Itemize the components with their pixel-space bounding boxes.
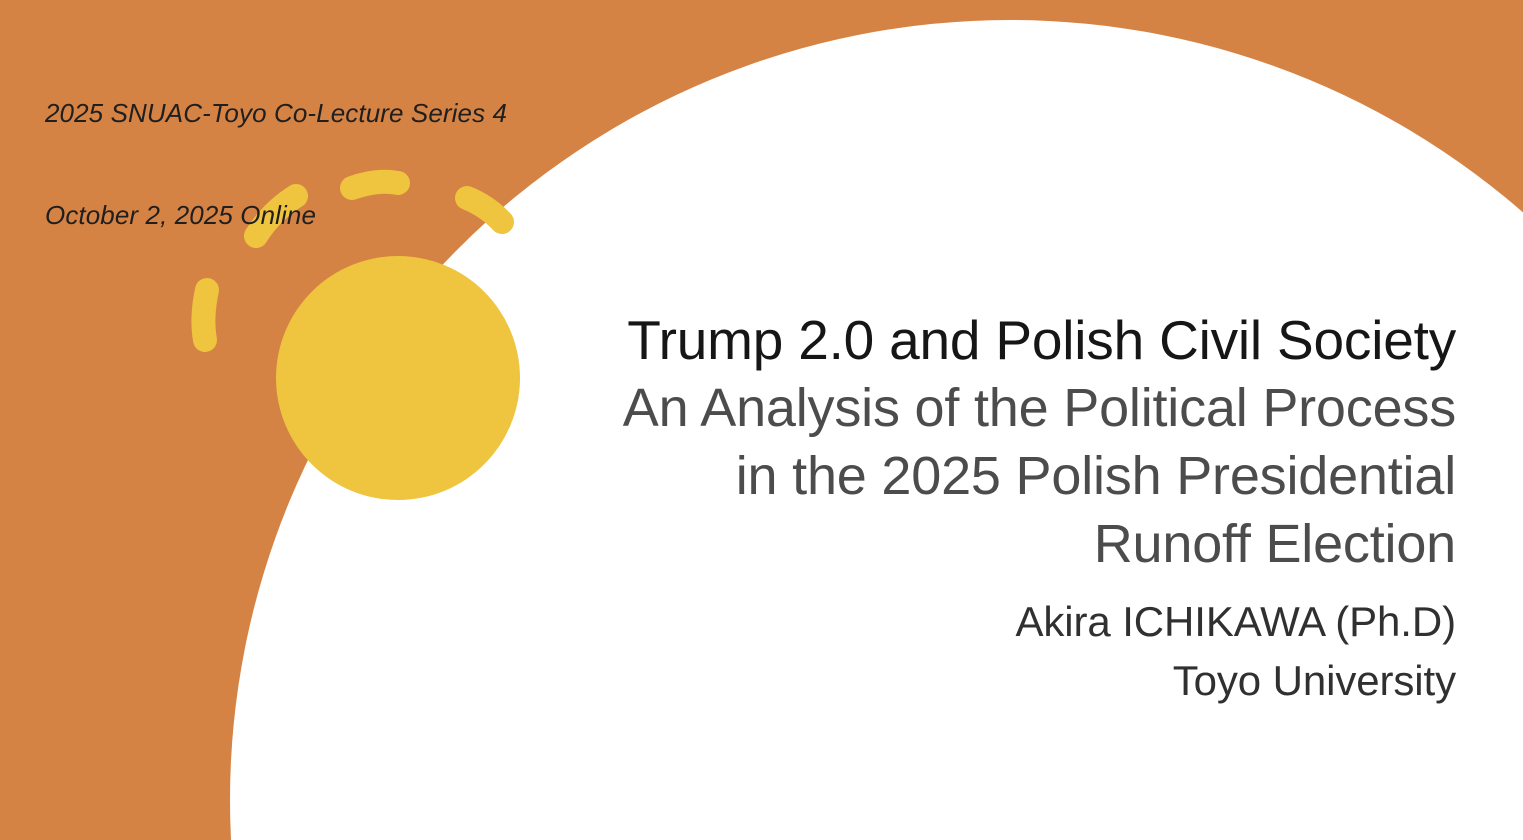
author-block: Akira ICHIKAWA (Ph.D) Toyo University — [506, 592, 1456, 710]
page-title: Trump 2.0 and Polish Civil Society — [506, 306, 1456, 374]
title-block: Trump 2.0 and Polish Civil Society An An… — [506, 306, 1456, 578]
event-series-line: 2025 SNUAC-Toyo Co-Lecture Series 4 — [45, 96, 507, 130]
subtitle-line-2: in the 2025 Polish Presidential — [506, 442, 1456, 510]
subtitle-line-3: Runoff Election — [506, 510, 1456, 578]
subtitle-line-1: An Analysis of the Political Process — [506, 374, 1456, 442]
event-header: 2025 SNUAC-Toyo Co-Lecture Series 4 Octo… — [45, 28, 507, 300]
author-name: Akira ICHIKAWA (Ph.D) — [506, 592, 1456, 651]
author-affiliation: Toyo University — [506, 651, 1456, 710]
title-slide: 2025 SNUAC-Toyo Co-Lecture Series 4 Octo… — [0, 0, 1524, 840]
event-date-line: October 2, 2025 Online — [45, 198, 507, 232]
